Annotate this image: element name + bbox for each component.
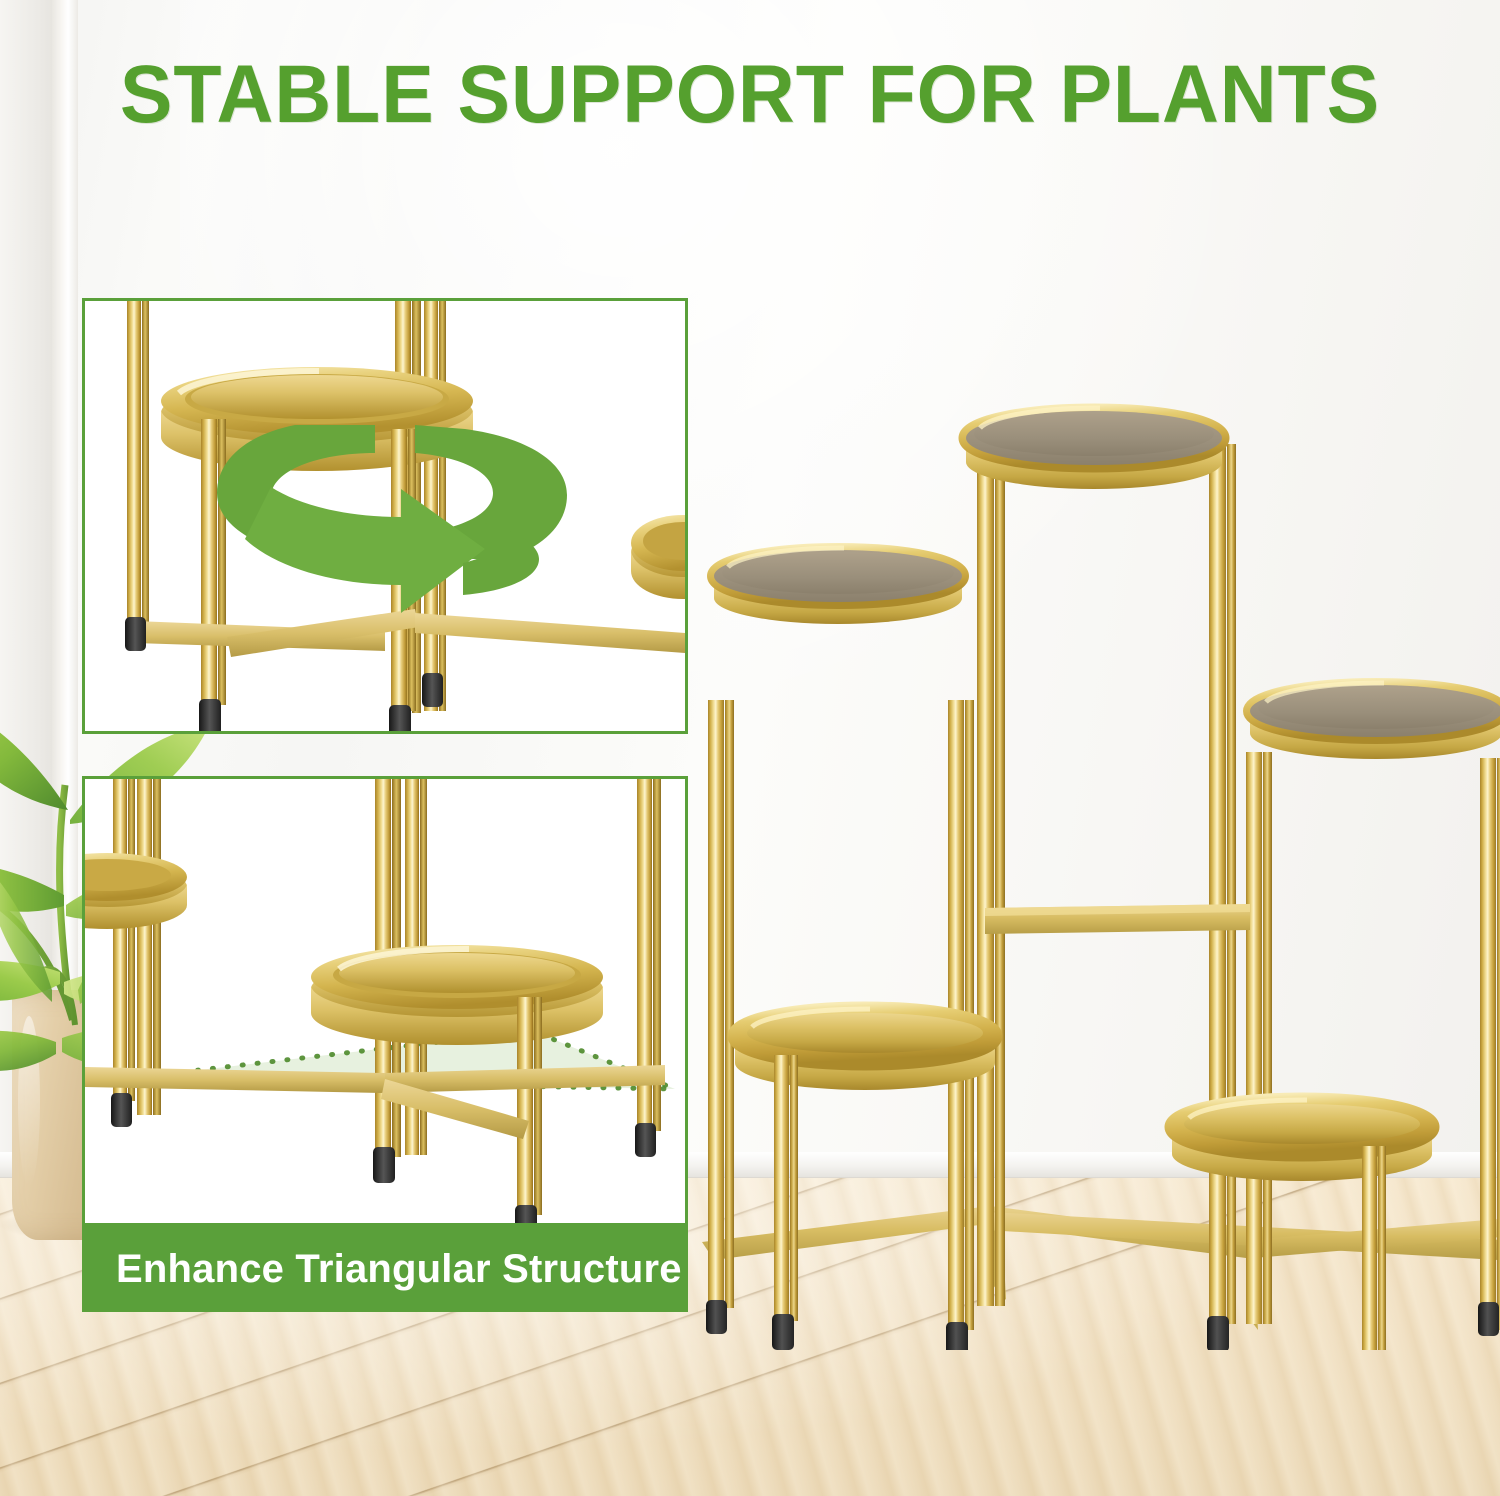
mid-cross-bar xyxy=(985,904,1250,934)
inset-rotation-detail xyxy=(82,298,688,734)
column-center-right xyxy=(995,444,1005,1306)
column-right-back-b xyxy=(1263,752,1272,1324)
page-title: STABLE SUPPORT FOR PLANTS xyxy=(30,48,1470,142)
tray-tier-3 xyxy=(1250,683,1500,759)
adjacent-tray-partial xyxy=(631,515,685,599)
rotation-detail-illustration xyxy=(85,301,685,731)
feature-caption-bar: Enhance Triangular Structure xyxy=(82,1226,688,1312)
plant-stand-product xyxy=(690,400,1500,1350)
column-left-front-b xyxy=(725,700,734,1308)
column-right-back xyxy=(1246,752,1262,1324)
feature-caption-text: Enhance Triangular Structure xyxy=(82,1247,682,1292)
column-center-left xyxy=(977,444,994,1306)
column-center-far-b xyxy=(1227,444,1236,1324)
inset-triangle-detail xyxy=(82,776,688,1226)
column-center-far xyxy=(1209,444,1226,1324)
column-left-front xyxy=(708,700,724,1308)
column-right-front xyxy=(1480,758,1496,1330)
triangle-detail-illustration xyxy=(85,779,685,1223)
tray-middle xyxy=(311,945,603,1045)
tray-left-partial xyxy=(85,853,187,929)
tray-tier-2 xyxy=(714,548,962,624)
product-feature-image: STABLE SUPPORT FOR PLANTS xyxy=(0,0,1500,1496)
tray-tier-1 xyxy=(966,408,1222,489)
